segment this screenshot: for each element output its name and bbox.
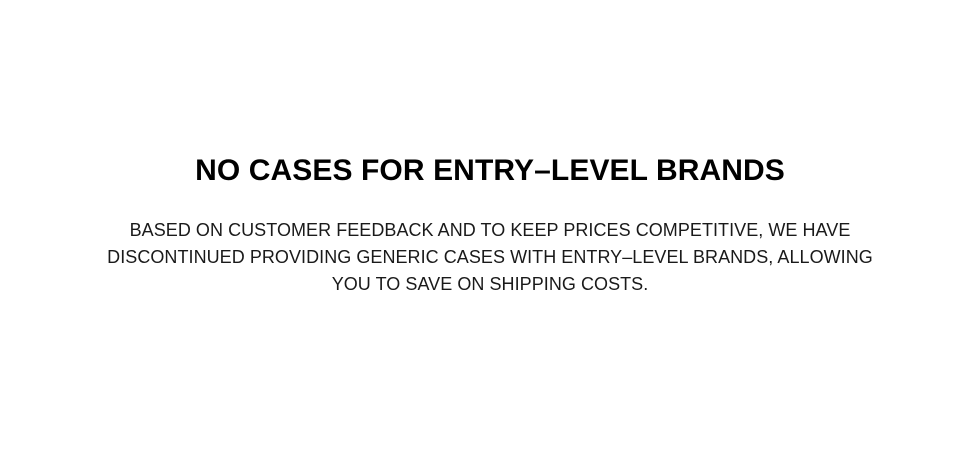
banner-body-line-3: YOU TO SAVE ON SHIPPING COSTS. (95, 271, 885, 298)
banner-body-line-2: DISCONTINUED PROVIDING GENERIC CASES WIT… (95, 244, 885, 271)
banner-body-line-1: BASED ON CUSTOMER FEEDBACK AND TO KEEP P… (95, 217, 885, 244)
banner-body-text: BASED ON CUSTOMER FEEDBACK AND TO KEEP P… (95, 217, 885, 298)
banner-heading: NO CASES FOR ENTRY–LEVEL BRANDS (195, 152, 785, 190)
banner-content-wrapper: NO CASES FOR ENTRY–LEVEL BRANDS BASED ON… (50, 152, 930, 298)
promo-banner: NO CASES FOR ENTRY–LEVEL BRANDS BASED ON… (0, 0, 980, 450)
